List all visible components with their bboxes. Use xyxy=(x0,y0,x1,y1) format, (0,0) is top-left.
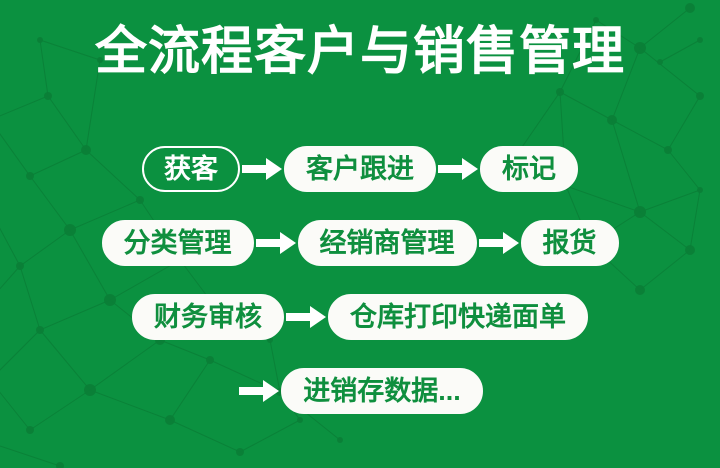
flow-row: 进销存数据... xyxy=(0,368,720,414)
page-title: 全流程客户与销售管理 xyxy=(0,22,720,82)
flow-step-baohuo[interactable]: 报货 xyxy=(521,220,619,266)
arrow-right-icon xyxy=(477,220,521,266)
arrow-right-icon xyxy=(284,294,328,340)
arrow-right-icon xyxy=(436,146,480,192)
flow-row: 获客 客户跟进 标记 xyxy=(0,146,720,192)
flow-row: 财务审核 仓库打印快递面单 xyxy=(0,294,720,340)
flow-step-jingxiaoshangguanli[interactable]: 经销商管理 xyxy=(298,220,477,266)
flow-step-huoke[interactable]: 获客 xyxy=(142,146,240,192)
flow-step-biaoji[interactable]: 标记 xyxy=(480,146,578,192)
arrow-right-icon xyxy=(254,220,298,266)
arrow-right-icon xyxy=(240,146,284,192)
process-flow: 获客 客户跟进 标记 分类管理 经销商管理 xyxy=(0,146,720,414)
flow-step-fenleiguanli[interactable]: 分类管理 xyxy=(102,220,254,266)
flow-step-caiwushenhe[interactable]: 财务审核 xyxy=(132,294,284,340)
promo-banner: 全流程客户与销售管理 获客 客户跟进 标记 分类管理 经销商 xyxy=(0,0,720,468)
flow-step-jinxiaocunshuju[interactable]: 进销存数据... xyxy=(281,368,483,414)
arrow-right-icon xyxy=(237,368,281,414)
flow-step-kehugenjin[interactable]: 客户跟进 xyxy=(284,146,436,192)
flow-step-cangkudayinkuaidimiandan[interactable]: 仓库打印快递面单 xyxy=(328,294,588,340)
flow-row: 分类管理 经销商管理 报货 xyxy=(0,220,720,266)
